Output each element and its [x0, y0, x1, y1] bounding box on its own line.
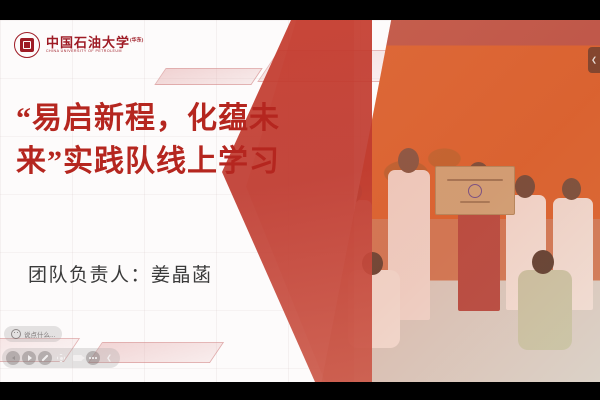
presenter-toolbar[interactable]: ❮ — [2, 348, 120, 368]
laser-pointer-button[interactable] — [54, 351, 68, 365]
presentation-slide[interactable]: 中国石油大学(华东) CHINA UNIVERSITY OF PETROLEUM… — [0, 20, 600, 382]
slide-subtitle: 团队负责人：姜晶菡 — [28, 260, 213, 287]
previous-slide-button[interactable] — [6, 351, 20, 365]
decorative-parallelogram — [154, 68, 262, 85]
play-button[interactable] — [22, 351, 36, 365]
smiley-icon[interactable] — [11, 329, 21, 339]
screen-share-viewport: 您正在共享屏幕 结束共享 — [0, 0, 600, 400]
panel-collapse-tab[interactable]: ❮ — [588, 47, 600, 73]
university-logo: 中国石油大学(华东) CHINA UNIVERSITY OF PETROLEUM — [14, 32, 143, 58]
university-seal-icon — [14, 32, 40, 58]
top-letterbox-bar — [0, 0, 600, 20]
collapse-toolbar-button[interactable]: ❮ — [102, 351, 116, 365]
chevron-left-icon: ❮ — [591, 57, 597, 64]
bottom-letterbox-bar — [0, 382, 600, 400]
logo-name-cn: 中国石油大学(华东) — [46, 36, 143, 49]
more-options-button[interactable] — [86, 351, 100, 365]
camera-button[interactable] — [70, 351, 84, 365]
logo-name-en: CHINA UNIVERSITY OF PETROLEUM — [46, 50, 143, 54]
slide-title: “易启新程，化蕴未来”实践队线上学习 — [16, 98, 336, 183]
comment-placeholder: 说点什么... — [24, 329, 55, 339]
comment-input[interactable]: 说点什么... — [4, 326, 62, 342]
pen-tool-button[interactable] — [38, 351, 52, 365]
